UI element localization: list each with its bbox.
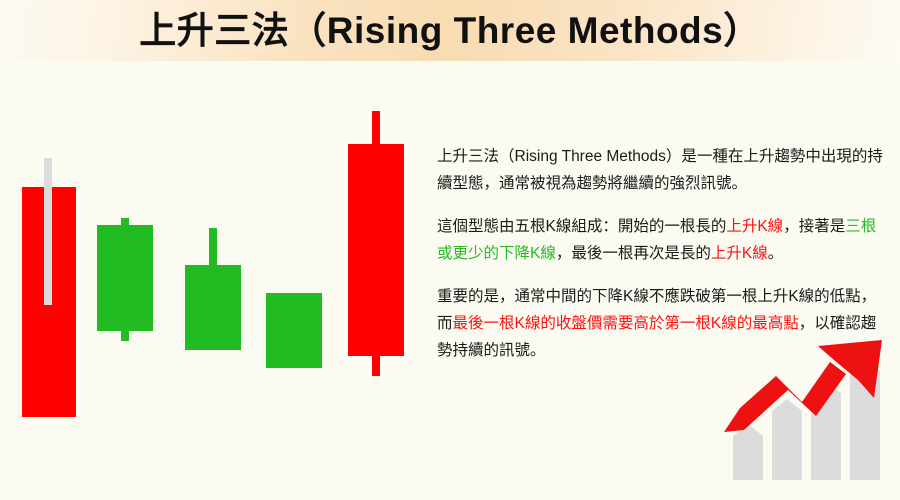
paragraph-2-seg-7: 。 [768, 245, 784, 262]
candlestick-5 [348, 61, 404, 500]
growth-bar-1 [733, 424, 763, 480]
page-root: 上升三法（Rising Three Methods） [0, 0, 900, 500]
candlestick-chart [0, 61, 430, 500]
candlestick-2-body [97, 225, 153, 331]
candlestick-4 [266, 61, 322, 500]
paragraph-2-seg-2-bullish: 上升K線 [726, 218, 783, 235]
candlestick-3 [185, 61, 241, 500]
candlestick-5-body [348, 144, 404, 356]
paragraph-2-seg-1: 這個型態由五根K線組成：開始的一根長的 [437, 218, 726, 235]
candlestick-2-wick-lower [121, 327, 129, 341]
page-title: 上升三法（Rising Three Methods） [0, 0, 900, 61]
description-block: 上升三法（Rising Three Methods）是一種在上升趨勢中出現的持續… [437, 143, 885, 364]
paragraph-2-seg-3: ，接著是 [783, 218, 845, 235]
candlestick-1-wick-overlay [44, 187, 52, 305]
growth-bar-2 [772, 399, 802, 480]
paragraph-2-seg-5: ，最後一根再次是長的 [556, 245, 711, 262]
paragraph-2-seg-6-bullish: 上升K線 [711, 245, 768, 262]
candlestick-5-wick-lower [372, 353, 380, 376]
candlestick-3-wick-upper [209, 228, 217, 269]
candlestick-2 [97, 61, 153, 500]
candlestick-3-body [185, 265, 241, 350]
description-paragraph-1: 上升三法（Rising Three Methods）是一種在上升趨勢中出現的持續… [437, 143, 885, 197]
paragraph-3-seg-2-emphasis: 最後一根K線的收盤價需要高於第一根K線的最高點 [453, 315, 799, 332]
paragraph-1-text: 上升三法（Rising Three Methods）是一種在上升趨勢中出現的持續… [437, 148, 883, 192]
description-paragraph-2: 這個型態由五根K線組成：開始的一根長的上升K線，接著是三根或更少的下降K線，最後… [437, 213, 885, 267]
candlestick-5-wick-upper [372, 111, 380, 147]
candlestick-1 [22, 61, 76, 500]
candlestick-4-body [266, 293, 322, 368]
growth-graphic [722, 336, 894, 486]
